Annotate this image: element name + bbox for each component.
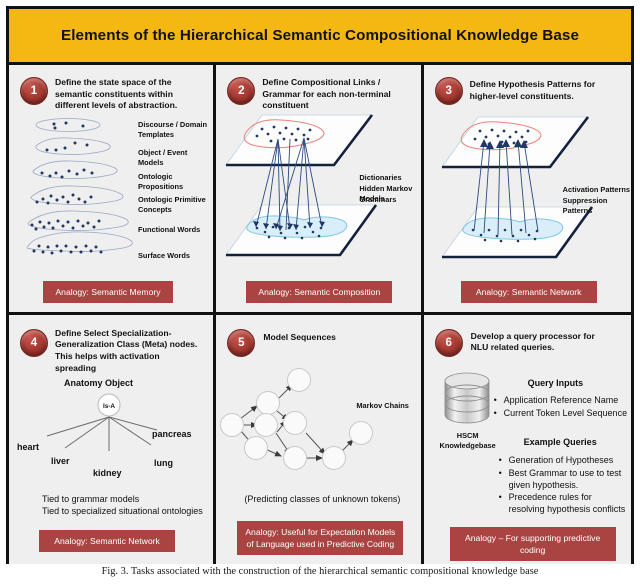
step-badge-4: 4 — [20, 329, 48, 357]
query-input-item-1: • Current Token Level Sequence — [504, 407, 629, 419]
step-badge-3: 3 — [435, 77, 463, 105]
figure-title-bar: Elements of the Hierarchical Semantic Co… — [9, 9, 631, 65]
step-badge-6: 6 — [435, 329, 463, 357]
example-query-text-1: Best Grammar to use to test given hypoth… — [509, 468, 622, 490]
panel-4-analogy: Analogy: Semantic Network — [39, 530, 175, 552]
panel-1: 1 Define the state space of the semantic… — [9, 65, 216, 315]
figure-root: Elements of the Hierarchical Semantic Co… — [0, 0, 640, 586]
panel-2-analogy: Analogy: Semantic Composition — [246, 281, 392, 303]
panel-6: 6 Develop a query processor for NLU rela… — [424, 315, 631, 565]
panel-2-side-label-0: Dictionaries — [359, 173, 401, 183]
tree-leaf-kidney: kidney — [93, 467, 122, 479]
example-query-item-1: • Best Grammar to use to test given hypo… — [509, 467, 627, 491]
figure-caption: Fig. 3. Tasks associated with the constr… — [0, 566, 640, 586]
panel-3-analogy: Analogy: Semantic Network — [461, 281, 597, 303]
panel-4-heading: Define Select Specialization-Generalizat… — [55, 328, 203, 375]
panel-5: 5 Model Sequences — [216, 315, 423, 565]
panel-3-side-label-0: Activation Patterns — [563, 185, 630, 195]
example-query-text-0: Generation of Hypotheses — [509, 455, 614, 465]
tree-leaf-pancreas: pancreas — [152, 428, 192, 440]
svg-text:Is-A: Is-A — [103, 403, 115, 410]
level-label-5: Surface Words — [138, 251, 210, 261]
query-input-text-1: Current Token Level Sequence — [504, 408, 627, 418]
panel-1-levels-graphic — [23, 115, 133, 255]
level-label-0: Discourse / Domain Templates — [138, 120, 210, 140]
level-label-3: Ontologic Primitive Concepts — [138, 195, 208, 215]
query-input-text-0: Application Reference Name — [504, 395, 619, 405]
database-icon — [442, 371, 492, 427]
panel-2: 2 Define Compositional Links / Grammar f… — [216, 65, 423, 315]
panel-4-tree-title: Anatomy Object — [64, 377, 133, 389]
panel-grid: 1 Define the state space of the semantic… — [9, 65, 631, 564]
tree-leaf-heart: heart — [17, 441, 39, 453]
panel-2-heading: Define Compositional Links / Grammar for… — [262, 77, 407, 112]
panel-1-heading: Define the state space of the semantic c… — [55, 77, 195, 112]
level-label-2: Ontologic Propositions — [138, 172, 216, 192]
panel-6-analogy: Analogy – For supporting predictive codi… — [450, 527, 616, 562]
tree-leaf-liver: liver — [51, 455, 70, 467]
step-badge-2: 2 — [227, 77, 255, 105]
step-badge-1: 1 — [20, 77, 48, 105]
panel-1-analogy: Analogy: Semantic Memory — [43, 281, 173, 303]
db-label-line2: Knowledgebase — [434, 441, 502, 451]
panel-6-heading: Develop a query processor for NLU relate… — [471, 331, 611, 354]
panel-3: 3 Define Hypothesis Patterns for higher-… — [424, 65, 631, 315]
level-label-4: Functional Words — [138, 225, 210, 235]
example-query-item-0: • Generation of Hypotheses — [509, 454, 629, 466]
step-badge-5: 5 — [227, 329, 255, 357]
page-title: Elements of the Hierarchical Semantic Co… — [61, 27, 579, 44]
panel-3-side-label-1: Suppression Patterns — [563, 196, 631, 216]
panel-2-side-label-2: Grammars — [359, 195, 396, 205]
panel-5-heading: Model Sequences — [263, 332, 403, 344]
level-label-1: Object / Event Models — [138, 148, 214, 168]
panel-4-note-0: Tied to grammar models — [42, 493, 139, 505]
panel-5-analogy: Analogy: Useful for Expectation Models o… — [237, 521, 403, 556]
example-query-item-2: • Precedence rules for resolving hypothe… — [509, 491, 627, 515]
diagram-board: Elements of the Hierarchical Semantic Co… — [6, 6, 634, 564]
query-input-item-0: • Application Reference Name — [504, 394, 629, 406]
panel-5-subcaption: (Predicting classes of unknown tokens) — [244, 493, 400, 505]
tree-leaf-lung: lung — [154, 457, 173, 469]
panel-3-heading: Define Hypothesis Patterns for higher-le… — [470, 79, 615, 102]
example-query-text-2: Precedence rules for resolving hypothesi… — [509, 492, 626, 514]
query-inputs-title: Query Inputs — [528, 377, 584, 389]
panel-4-note-1: Tied to specialized situational ontologi… — [42, 505, 203, 517]
panel-5-markov-graph — [222, 361, 422, 486]
db-label-line1: HSCM — [446, 431, 490, 441]
panel-5-graph-label: Markov Chains — [356, 401, 409, 411]
example-queries-title: Example Queries — [524, 436, 597, 448]
panel-4: 4 Define Select Specialization-Generaliz… — [9, 315, 216, 565]
